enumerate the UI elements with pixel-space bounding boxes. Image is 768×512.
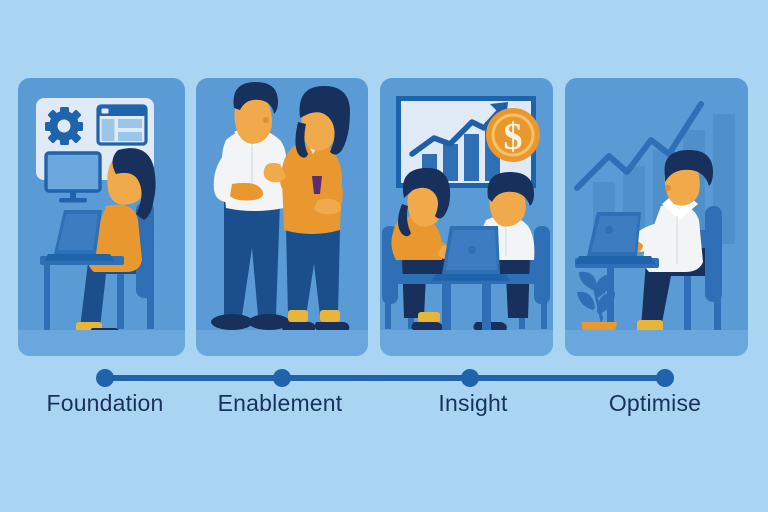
stage-label-optimise[interactable]: Optimise [609,390,701,417]
panel-floor [380,330,553,356]
panel-floor [196,330,368,356]
panel-optimise[interactable] [565,78,748,356]
stage-label-foundation[interactable]: Foundation [46,390,163,417]
timeline-dot-enablement[interactable] [273,369,291,387]
scene-insight: $ [380,78,553,356]
stage-label-insight[interactable]: Insight [438,390,507,417]
svg-text:$: $ [504,116,523,158]
panel-enablement[interactable] [196,78,368,356]
panel-floor [18,330,185,356]
panel-foundation[interactable] [18,78,185,356]
illustration-canvas: $ [0,0,768,512]
browser-window-icon [98,106,146,144]
standing-man [211,82,290,330]
scene-foundation [18,78,185,356]
stage-label-enablement[interactable]: Enablement [218,390,343,417]
dollar-coin-icon: $ [486,108,540,162]
scene-optimise [565,78,748,356]
scene-enablement [196,78,368,356]
panel-floor [565,330,748,356]
timeline-dot-insight[interactable] [461,369,479,387]
monitor-icon [46,153,100,203]
gear-icon [45,107,83,145]
timeline-dot-foundation[interactable] [96,369,114,387]
panel-insight[interactable]: $ [380,78,553,356]
timeline-dot-optimise[interactable] [656,369,674,387]
